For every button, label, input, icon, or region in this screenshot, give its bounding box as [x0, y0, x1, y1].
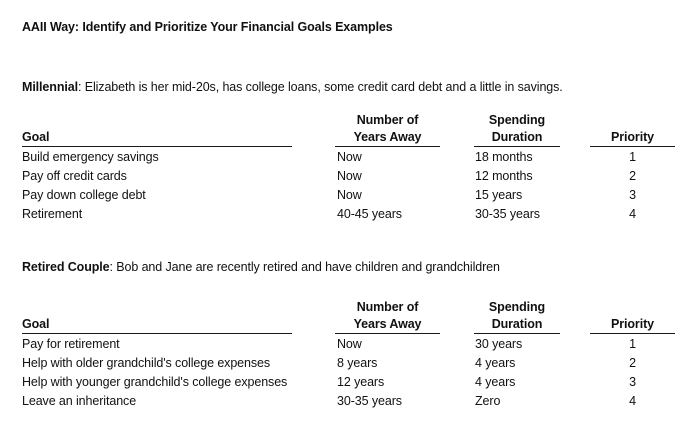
header-rule-years	[335, 333, 440, 334]
cell-years-away: Now	[337, 150, 362, 164]
cell-years-away: Now	[337, 188, 362, 202]
cell-goal: Pay down college debt	[22, 188, 146, 202]
cell-spending-duration: 4 years	[475, 356, 515, 370]
column-header-spending-line2: Duration	[474, 316, 560, 333]
cell-goal: Leave an inheritance	[22, 394, 136, 408]
cell-goal: Pay off credit cards	[22, 169, 127, 183]
cell-priority: 3	[590, 188, 675, 202]
page-title: AAII Way: Identify and Prioritize Your F…	[22, 20, 393, 34]
column-header-spending-duration: Spending Duration	[474, 112, 560, 146]
persona-name-millennial: Millennial	[22, 80, 78, 94]
column-header-goal: Goal	[22, 129, 49, 146]
cell-spending-duration: 12 months	[475, 169, 532, 183]
cell-spending-duration: 4 years	[475, 375, 515, 389]
header-rule-years	[335, 146, 440, 147]
cell-spending-duration: 15 years	[475, 188, 522, 202]
cell-goal: Pay for retirement	[22, 337, 120, 351]
cell-years-away: 40-45 years	[337, 207, 402, 221]
cell-priority: 4	[590, 394, 675, 408]
column-header-spending-line1: Spending	[474, 299, 560, 316]
cell-priority: 1	[590, 337, 675, 351]
table-row: Pay for retirement Now 30 years 1	[0, 337, 700, 356]
column-header-goal: Goal	[22, 316, 49, 333]
cell-years-away: Now	[337, 337, 362, 351]
persona-name-retired-couple: Retired Couple	[22, 260, 110, 274]
column-header-years-away-line2: Years Away	[335, 316, 440, 333]
table-row: Pay off credit cards Now 12 months 2	[0, 169, 700, 188]
cell-spending-duration: Zero	[475, 394, 500, 408]
cell-spending-duration: 30-35 years	[475, 207, 540, 221]
column-header-spending-duration: Spending Duration	[474, 299, 560, 333]
table-row: Retirement 40-45 years 30-35 years 4	[0, 207, 700, 226]
persona-intro-retired-couple: Retired Couple: Bob and Jane are recentl…	[22, 260, 500, 274]
column-header-years-away: Number of Years Away	[335, 112, 440, 146]
table-row: Help with older grandchild's college exp…	[0, 356, 700, 375]
persona-separator-millennial: :	[78, 80, 85, 94]
cell-years-away: 8 years	[337, 356, 377, 370]
cell-spending-duration: 18 months	[475, 150, 532, 164]
cell-goal: Help with younger grandchild's college e…	[22, 375, 287, 389]
cell-goal: Build emergency savings	[22, 150, 159, 164]
table-row: Help with younger grandchild's college e…	[0, 375, 700, 394]
column-header-priority: Priority	[590, 316, 675, 333]
persona-description-millennial: Elizabeth is her mid-20s, has college lo…	[85, 80, 563, 94]
header-rule-priority	[590, 333, 675, 334]
cell-priority: 2	[590, 356, 675, 370]
cell-priority: 2	[590, 169, 675, 183]
header-rule-spending	[474, 333, 560, 334]
column-header-years-away-line1: Number of	[335, 299, 440, 316]
column-header-years-away-line1: Number of	[335, 112, 440, 129]
cell-years-away: 30-35 years	[337, 394, 402, 408]
table-row: Leave an inheritance 30-35 years Zero 4	[0, 394, 700, 413]
cell-priority: 3	[590, 375, 675, 389]
header-rule-goal	[22, 333, 292, 334]
column-header-years-away: Number of Years Away	[335, 299, 440, 333]
cell-goal: Help with older grandchild's college exp…	[22, 356, 270, 370]
cell-goal: Retirement	[22, 207, 82, 221]
cell-years-away: 12 years	[337, 375, 384, 389]
document-page: AAII Way: Identify and Prioritize Your F…	[0, 0, 700, 432]
cell-spending-duration: 30 years	[475, 337, 522, 351]
column-header-spending-line2: Duration	[474, 129, 560, 146]
cell-priority: 1	[590, 150, 675, 164]
persona-intro-millennial: Millennial: Elizabeth is her mid-20s, ha…	[22, 80, 563, 94]
persona-description-retired-couple: Bob and Jane are recently retired and ha…	[116, 260, 500, 274]
cell-priority: 4	[590, 207, 675, 221]
header-rule-goal	[22, 146, 292, 147]
column-header-years-away-line2: Years Away	[335, 129, 440, 146]
table-row: Build emergency savings Now 18 months 1	[0, 150, 700, 169]
header-rule-priority	[590, 146, 675, 147]
table-row: Pay down college debt Now 15 years 3	[0, 188, 700, 207]
column-header-spending-line1: Spending	[474, 112, 560, 129]
cell-years-away: Now	[337, 169, 362, 183]
header-rule-spending	[474, 146, 560, 147]
column-header-priority: Priority	[590, 129, 675, 146]
